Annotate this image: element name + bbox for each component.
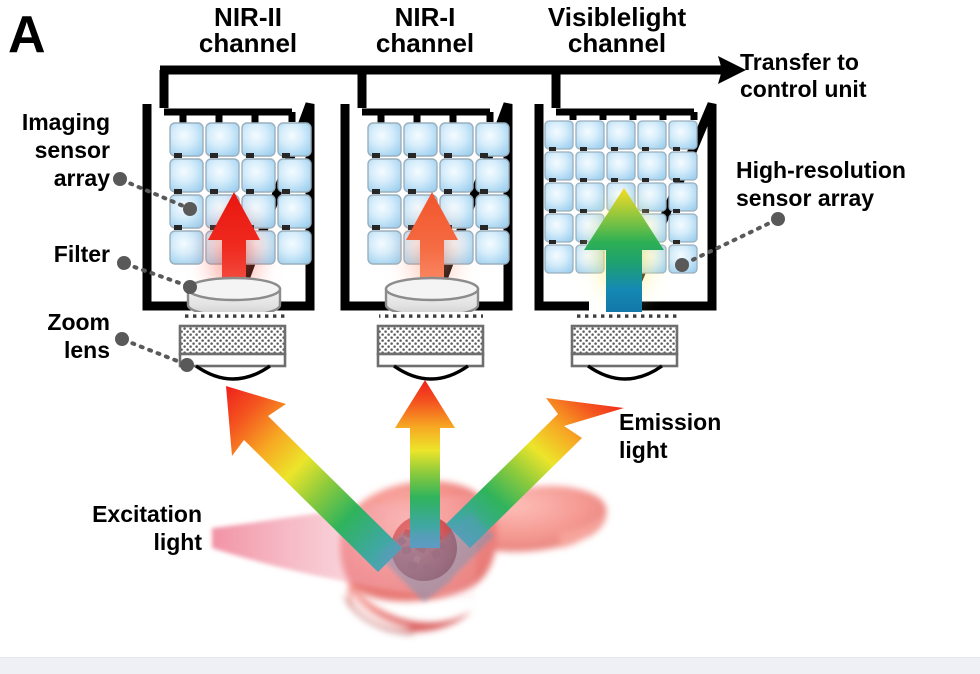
channel-visible-readout-bus xyxy=(556,112,694,120)
channel-nir2 xyxy=(147,104,311,379)
channel-visible-aperture-row xyxy=(573,312,677,320)
channel-visible-objective-lens xyxy=(588,366,662,379)
leader-dot-start-imaging xyxy=(113,172,127,186)
channel-visible-zoom-lens xyxy=(572,326,677,379)
channel-nir1-filter xyxy=(386,278,478,316)
channel-visible xyxy=(539,104,712,379)
figure-footer-strip xyxy=(0,657,980,674)
leader-dot-end-zoom-lens xyxy=(180,358,194,372)
schematic-canvas: A NIR-II channel NIR-I channel Visibleli… xyxy=(0,0,980,674)
figure-panel-a: A NIR-II channel NIR-I channel Visibleli… xyxy=(0,0,980,674)
callout-zoom-lens: Zoom lens xyxy=(47,309,194,372)
panel-letter: A xyxy=(8,6,46,64)
label-imaging-sensor-array-line2: sensor xyxy=(35,137,110,163)
label-excitation-light-line1: Excitation xyxy=(92,501,202,527)
leader-dot-end-high-res xyxy=(675,258,689,272)
leader-dot-start-filter xyxy=(117,256,131,270)
channel-title-visible-line2: channel xyxy=(568,28,666,58)
label-emission-light-line1: Emission xyxy=(619,409,721,435)
label-emission-light-line2: light xyxy=(619,437,668,463)
label-high-res-sensor-line2: sensor array xyxy=(736,185,874,211)
label-imaging-sensor-array-line3: array xyxy=(54,165,110,191)
leader-line-zoom-lens xyxy=(124,340,185,364)
label-filter: Filter xyxy=(54,241,110,267)
channel-nir2-aperture-row xyxy=(181,312,285,320)
leader-line-high-res-sensor xyxy=(684,220,776,264)
leader-line-filter xyxy=(126,264,188,286)
data-bus-to-control-unit xyxy=(160,70,722,108)
transfer-label-line2: control unit xyxy=(740,76,867,102)
label-zoom-lens-line1: Zoom xyxy=(47,309,110,335)
channel-nir1 xyxy=(345,104,509,379)
channel-nir2-filter xyxy=(188,278,280,316)
channel-nir1-aperture-row xyxy=(379,312,483,320)
channel-titles: NIR-II channel NIR-I channel Visibleligh… xyxy=(199,2,687,58)
channel-nir1-readout-bus xyxy=(362,112,490,124)
label-excitation-light-line2: light xyxy=(153,529,202,555)
label-imaging-sensor-array-line1: Imaging xyxy=(22,109,110,135)
channel-nir1-zoom-lens xyxy=(378,326,483,379)
channel-nir2-readout-bus xyxy=(164,112,292,124)
label-high-res-sensor-line1: High-resolution xyxy=(736,157,906,183)
leader-dot-start-zoom-lens xyxy=(115,332,129,346)
channel-nir2-objective-lens xyxy=(196,366,270,379)
transfer-label-line1: Transfer to xyxy=(740,49,859,75)
leader-dot-start-high-res xyxy=(771,212,785,226)
channel-title-nir1-line2: channel xyxy=(376,28,474,58)
leader-dot-end-filter xyxy=(183,280,197,294)
channel-nir1-objective-lens xyxy=(394,366,468,379)
leader-dot-end-imaging xyxy=(183,202,197,216)
channel-title-nir2-line2: channel xyxy=(199,28,297,58)
channel-nir2-zoom-lens xyxy=(180,326,285,379)
label-zoom-lens-line2: lens xyxy=(64,337,110,363)
